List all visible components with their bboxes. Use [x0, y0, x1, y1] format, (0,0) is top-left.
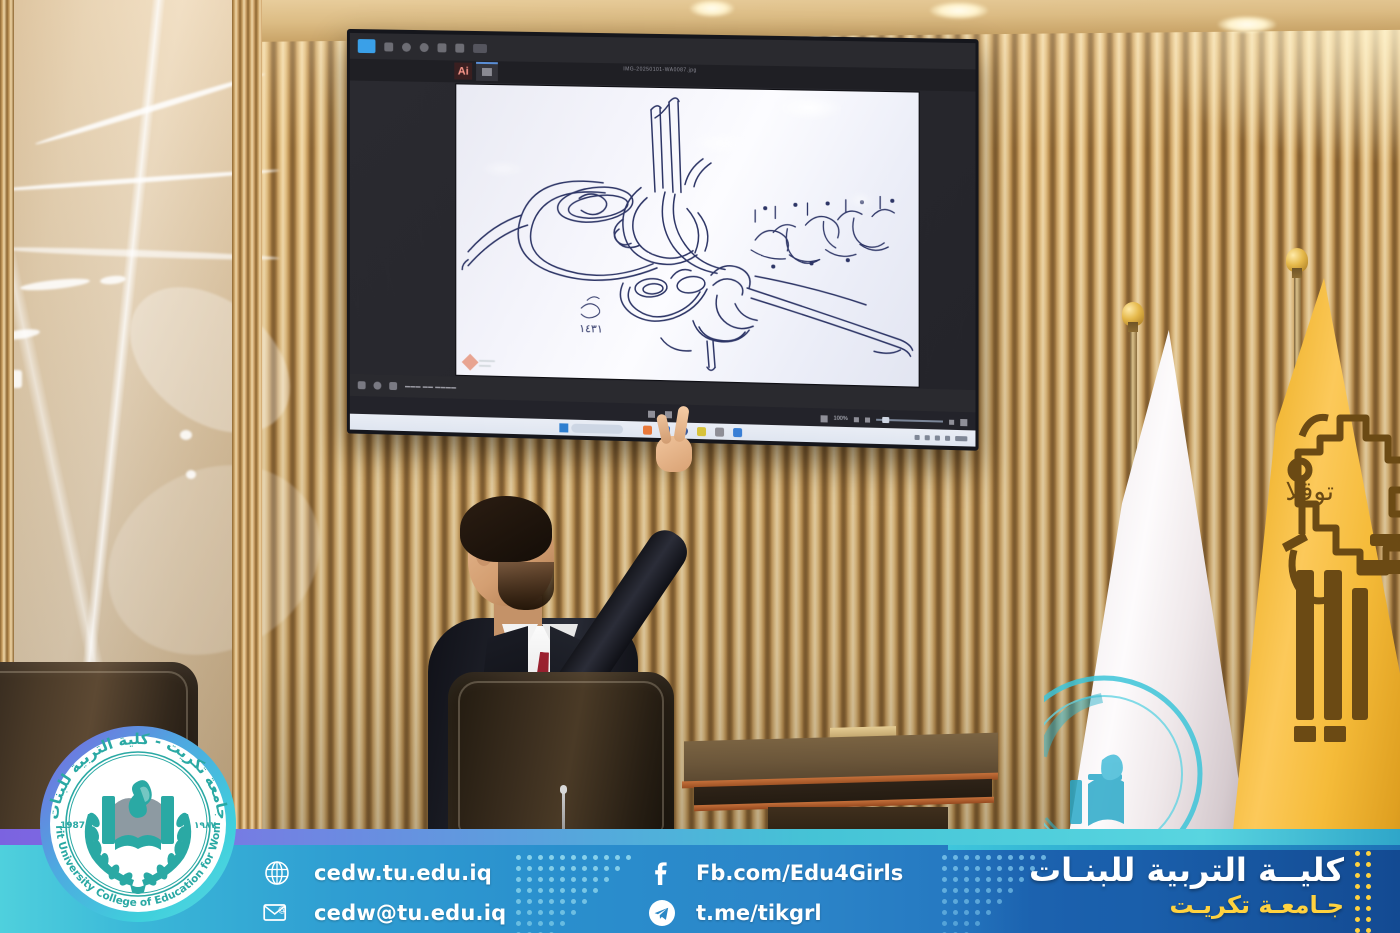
zoom-in-icon[interactable] — [949, 419, 954, 424]
logo-year-arabic: ١٩٨٧ — [194, 821, 216, 831]
taskbar-app-icon[interactable] — [733, 427, 742, 436]
system-tray[interactable] — [915, 434, 968, 440]
contact-row-email[interactable]: @ cedw@tu.edu.iq — [262, 893, 682, 933]
social-row-facebook[interactable]: Fb.com/Edu4Girls — [646, 853, 976, 893]
chevron-down-icon[interactable] — [854, 417, 859, 422]
university-flag: توقلا — [1232, 278, 1400, 840]
wall-trim — [232, 0, 262, 830]
taskbar-app-icon[interactable] — [643, 425, 652, 434]
facebook-label: Fb.com/Edu4Girls — [696, 861, 903, 885]
search-input[interactable] — [571, 423, 623, 433]
svg-text:@: @ — [278, 905, 286, 914]
illustrator-canvas[interactable]: ١٤٣١ ▬▬▬▬▬▬▬ — [350, 81, 976, 391]
zoom-level[interactable]: 100% — [834, 416, 848, 422]
color-icon[interactable] — [373, 382, 381, 390]
contact-row-website[interactable]: cedw.tu.edu.iq — [262, 853, 682, 893]
banner-right-top-strip — [948, 845, 1400, 850]
undo-icon[interactable] — [384, 42, 393, 51]
ceiling-downlight — [1218, 16, 1276, 33]
zoom-slider[interactable] — [876, 419, 943, 423]
social-row-telegram[interactable]: t.me/tikgrl — [646, 893, 976, 933]
flag-finial — [1122, 302, 1144, 326]
globe-icon — [262, 858, 292, 888]
college-name-arabic: كليــة التربية للبنـات — [1029, 853, 1344, 889]
tool-icon[interactable] — [420, 43, 429, 52]
arabic-calligraphy-artwork: ١٤٣١ — [456, 84, 918, 386]
taskbar-search[interactable] — [559, 423, 623, 434]
institution-name: كليــة التربية للبنـات جـامعـة تكريـت — [1029, 853, 1344, 920]
ceiling-downlight — [930, 2, 988, 19]
tool-icon[interactable] — [438, 43, 447, 52]
telegram-label: t.me/tikgrl — [696, 901, 822, 925]
fit-view-icon[interactable] — [648, 410, 655, 417]
workspace-switcher-icon[interactable] — [473, 43, 487, 52]
flag-finial — [1286, 248, 1308, 272]
chair-center — [448, 672, 674, 840]
layers-icon[interactable] — [358, 381, 366, 389]
contact-list: cedw.tu.edu.iq @ cedw@tu.edu.iq — [262, 853, 682, 933]
taskbar-app-icon[interactable] — [697, 426, 706, 435]
presenter-hand — [652, 422, 698, 474]
logo-year-latin: 1987 — [60, 821, 85, 831]
projection-screen[interactable]: Ai IMG-20250101-WA0087.jpg — [347, 29, 979, 451]
properties-icon[interactable] — [389, 382, 397, 390]
taskbar-app-icon[interactable] — [715, 427, 724, 436]
envelope-icon: @ — [262, 898, 292, 928]
app-menu-icon[interactable] — [358, 39, 376, 53]
university-name-arabic: جـامعـة تكريـت — [1029, 891, 1344, 920]
artwork-watermark: ▬▬▬▬▬▬▬ — [464, 356, 495, 369]
view-mode-icon[interactable] — [821, 415, 828, 422]
svg-text:١٤٣١: ١٤٣١ — [579, 322, 603, 336]
social-list: Fb.com/Edu4Girls t.me/tikgrl — [646, 853, 976, 933]
zoom-out-icon[interactable] — [865, 417, 870, 422]
flag-cloth — [1068, 330, 1248, 840]
artboard[interactable]: ١٤٣١ ▬▬▬▬▬▬▬ — [456, 84, 918, 386]
screenshot-root: Ai IMG-20250101-WA0087.jpg — [0, 0, 1400, 933]
facebook-icon — [646, 857, 678, 889]
tool-icon[interactable] — [402, 42, 411, 51]
presenter-hair — [460, 496, 552, 562]
flag-cloth — [1232, 278, 1400, 840]
start-button-icon[interactable] — [559, 423, 568, 432]
tool-icon[interactable] — [455, 43, 464, 52]
ceiling-downlight — [690, 0, 734, 17]
email-label: cedw@tu.edu.iq — [314, 901, 506, 925]
college-flag — [1068, 330, 1248, 840]
telegram-icon — [646, 897, 678, 929]
college-logo: جامعة تكريت - كلية التربية للبنات Tikrit… — [36, 722, 240, 926]
website-label: cedw.tu.edu.iq — [314, 861, 492, 885]
fullscreen-icon[interactable] — [960, 418, 967, 425]
screen-display: Ai IMG-20250101-WA0087.jpg — [350, 33, 976, 447]
